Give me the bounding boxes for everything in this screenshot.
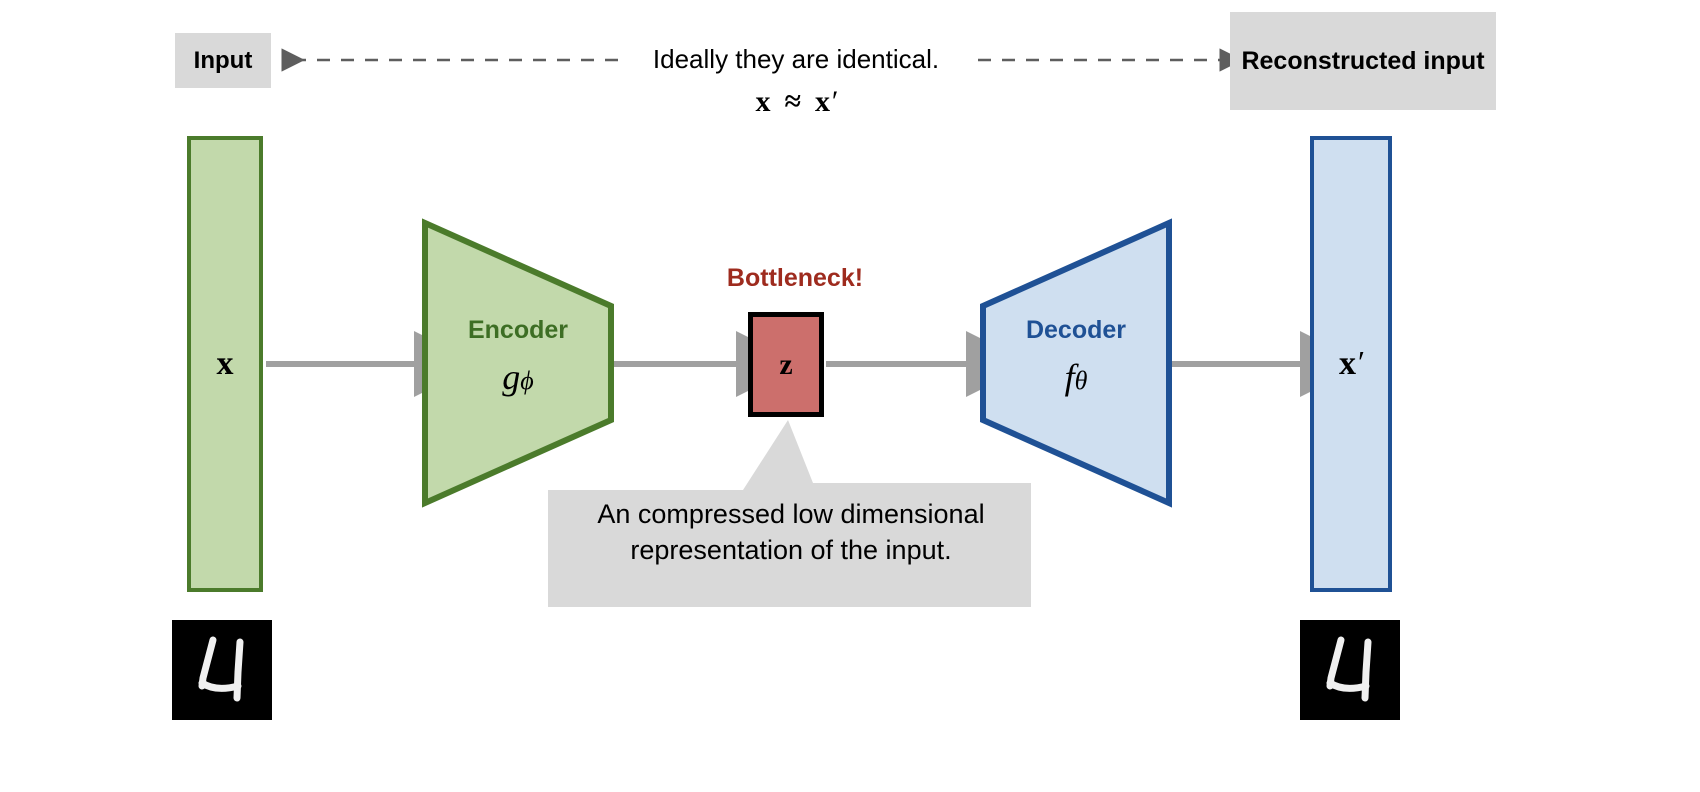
mnist-digit-four-right — [1300, 620, 1400, 720]
diagram-canvas: Input Reconstructed input Ideally they a… — [0, 0, 1700, 792]
equation-operator: ≈ — [784, 85, 800, 118]
decoder-fn-subscript: θ — [1075, 366, 1088, 395]
approx-equation: x≈x′ — [626, 85, 966, 119]
equation-rhs: x — [815, 85, 830, 118]
encoder-label: Encoder — [418, 316, 618, 345]
decoder-function: fθ — [976, 356, 1176, 398]
bottleneck-latent-box: z — [748, 312, 824, 417]
output-data-bar: x′ — [1310, 136, 1392, 592]
decoder-fn-letter: f — [1065, 357, 1075, 397]
callout-text: An compressed low dimensional representa… — [556, 496, 1026, 569]
callout-line-1: An compressed low dimensional — [556, 496, 1026, 532]
output-symbol: x — [1339, 345, 1356, 383]
equation-lhs: x — [755, 85, 770, 118]
encoder-fn-subscript: ϕ — [520, 366, 533, 395]
reconstructed-input-label-box: Reconstructed input — [1230, 12, 1496, 110]
input-symbol: x — [217, 345, 234, 383]
latent-symbol: z — [779, 348, 792, 382]
encoder-fn-letter: g — [502, 357, 520, 397]
input-label-box: Input — [175, 33, 271, 88]
equation-prime: ′ — [830, 85, 837, 118]
ideally-identical-caption: Ideally they are identical. — [626, 44, 966, 75]
output-prime: ′ — [1356, 344, 1363, 381]
mnist-reconstructed-thumbnail — [1300, 620, 1400, 720]
callout-line-2: representation of the input. — [556, 532, 1026, 568]
mnist-digit-four-left — [172, 620, 272, 720]
bottleneck-title: Bottleneck! — [665, 264, 925, 293]
input-data-bar: x — [187, 136, 263, 592]
decoder-label: Decoder — [976, 316, 1176, 345]
encoder-function: gϕ — [418, 356, 618, 398]
mnist-input-thumbnail — [172, 620, 272, 720]
